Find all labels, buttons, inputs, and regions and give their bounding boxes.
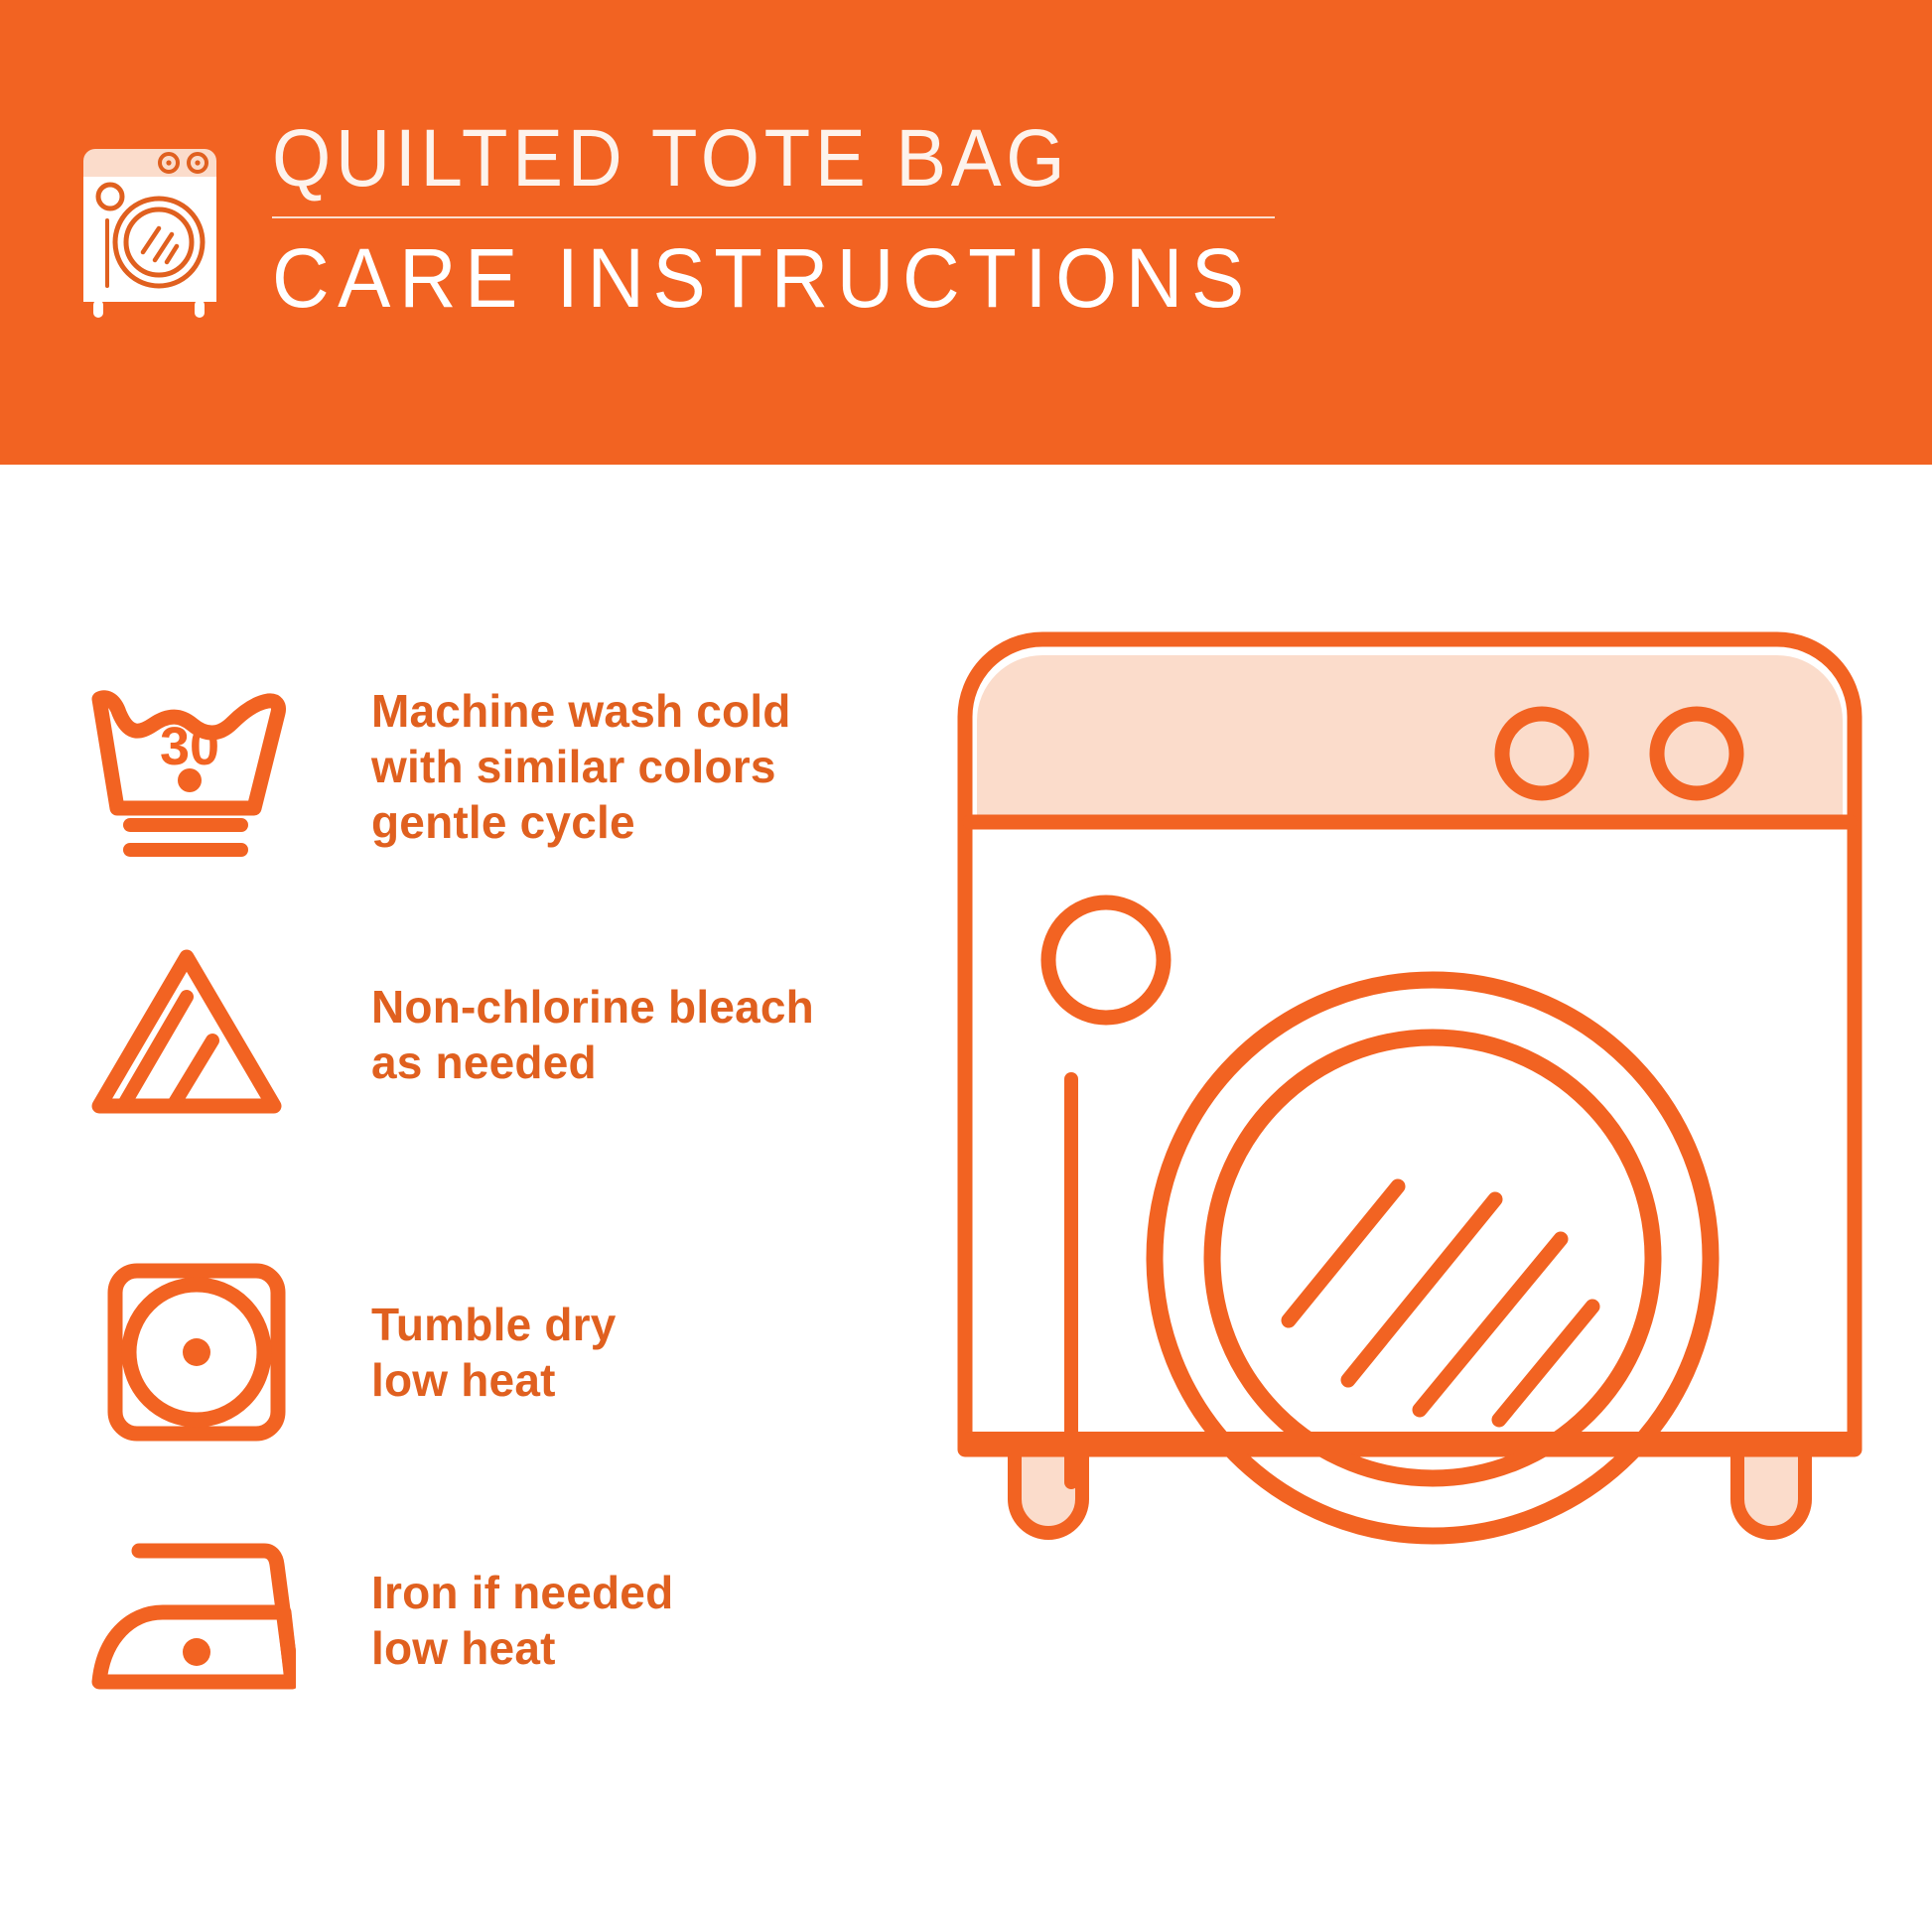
care-label-line: as needed xyxy=(371,1035,814,1090)
non-chlorine-bleach-triangle-icon xyxy=(77,935,296,1134)
care-row-iron: Iron if needed low heat xyxy=(77,1521,872,1720)
vertical-handle xyxy=(1064,1072,1078,1489)
tumble-dry-low-heat-icon xyxy=(77,1253,296,1451)
dial-left xyxy=(1502,714,1582,793)
iron-low-heat-icon xyxy=(77,1521,296,1720)
care-label-line: gentle cycle xyxy=(371,794,791,850)
care-row-bleach: Non-chlorine bleach as needed xyxy=(77,935,872,1134)
care-label-line: Non-chlorine bleach xyxy=(371,979,814,1035)
header-title-group: QUILTED TOTE BAG CARE INSTRUCTIONS xyxy=(272,111,1285,326)
care-row-tumble-dry: Tumble dry low heat xyxy=(77,1253,872,1451)
care-label-line: Iron if needed xyxy=(371,1565,673,1620)
header-banner: QUILTED TOTE BAG CARE INSTRUCTIONS xyxy=(0,0,1932,465)
dial-right xyxy=(1657,714,1736,793)
care-label-bleach: Non-chlorine bleach as needed xyxy=(371,979,814,1090)
wash-basin-30-gentle-icon: 30 xyxy=(77,667,296,866)
care-label-tumble-dry: Tumble dry low heat xyxy=(371,1297,617,1408)
care-label-line: Tumble dry xyxy=(371,1297,617,1352)
washing-machine-icon xyxy=(77,135,222,324)
page-title: QUILTED TOTE BAG xyxy=(272,111,1214,207)
care-label-line: low heat xyxy=(371,1352,617,1408)
wash-temperature-label: 30 xyxy=(160,717,219,776)
care-label-line: Machine wash cold xyxy=(371,683,791,739)
care-label-line: low heat xyxy=(371,1620,673,1676)
page-subtitle: CARE INSTRUCTIONS xyxy=(272,230,1234,326)
care-label-line: with similar colors xyxy=(371,739,791,794)
title-divider xyxy=(272,216,1275,218)
large-washing-machine-illustration xyxy=(953,625,1866,1866)
care-label-iron: Iron if needed low heat xyxy=(371,1565,673,1676)
header-content: QUILTED TOTE BAG CARE INSTRUCTIONS xyxy=(77,127,1328,345)
care-row-wash: 30 Machine wash cold with similar colors… xyxy=(77,667,872,866)
care-label-wash: Machine wash cold with similar colors ge… xyxy=(371,683,791,850)
